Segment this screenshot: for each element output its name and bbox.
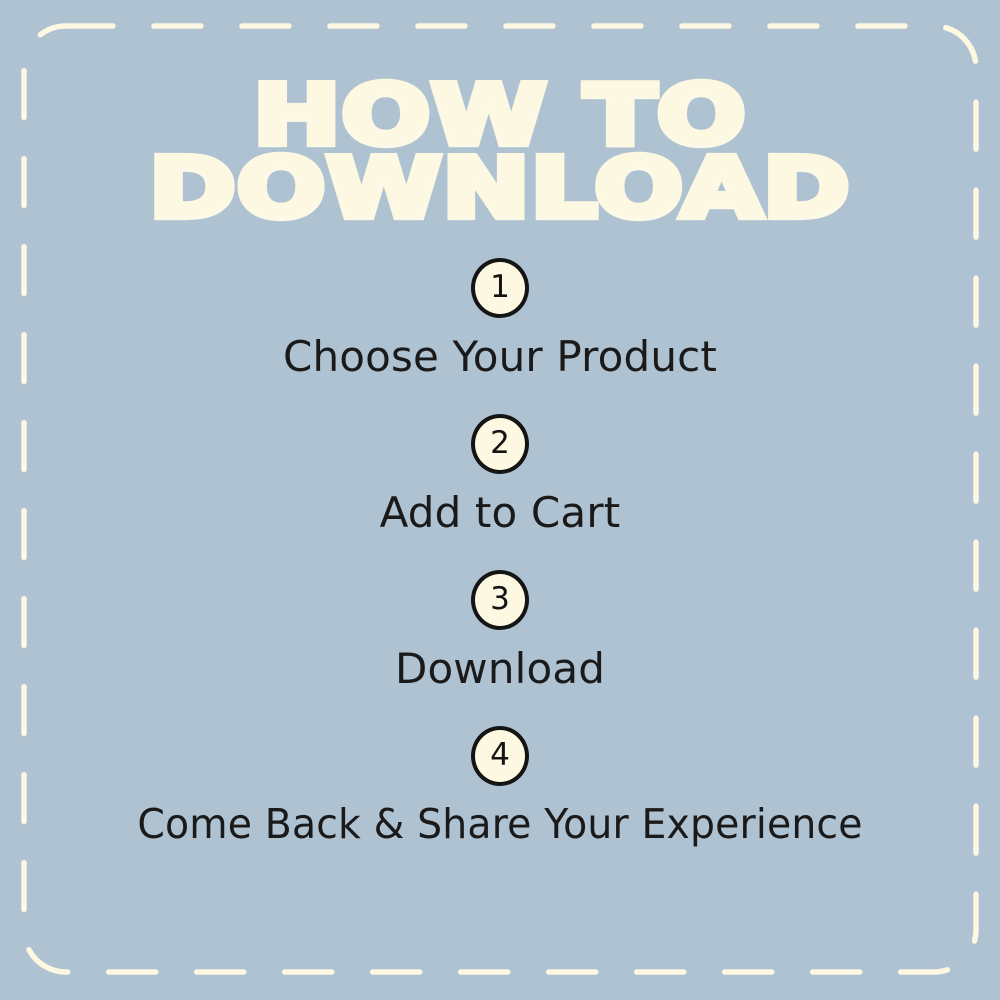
- step-label-2: Add to Cart: [0, 488, 1000, 537]
- step-item-3: 3 Download: [0, 570, 1000, 693]
- step-number-badge-3: 3: [471, 570, 529, 630]
- title-line-how-to: HOW TO: [0, 81, 1000, 150]
- title-line-download: DOWNLOAD: [0, 155, 1000, 224]
- step-label-1: Choose Your Product: [0, 332, 1000, 381]
- step-label-4: Come Back & Share Your Experience: [20, 800, 980, 848]
- step-number-badge-4: 4: [471, 726, 529, 786]
- page-title: HOW TO DOWNLOAD: [0, 82, 1000, 222]
- step-item-2: 2 Add to Cart: [0, 414, 1000, 537]
- step-label-3: Download: [0, 644, 1000, 693]
- step-item-1: 1 Choose Your Product: [0, 258, 1000, 381]
- how-to-download-poster: HOW TO DOWNLOAD 1 Choose Your Product 2 …: [0, 0, 1000, 1000]
- step-item-4: 4 Come Back & Share Your Experience: [0, 726, 1000, 848]
- steps-list: 1 Choose Your Product 2 Add to Cart 3 Do…: [0, 258, 1000, 881]
- step-number-badge-2: 2: [471, 414, 529, 474]
- step-number-badge-1: 1: [471, 258, 529, 318]
